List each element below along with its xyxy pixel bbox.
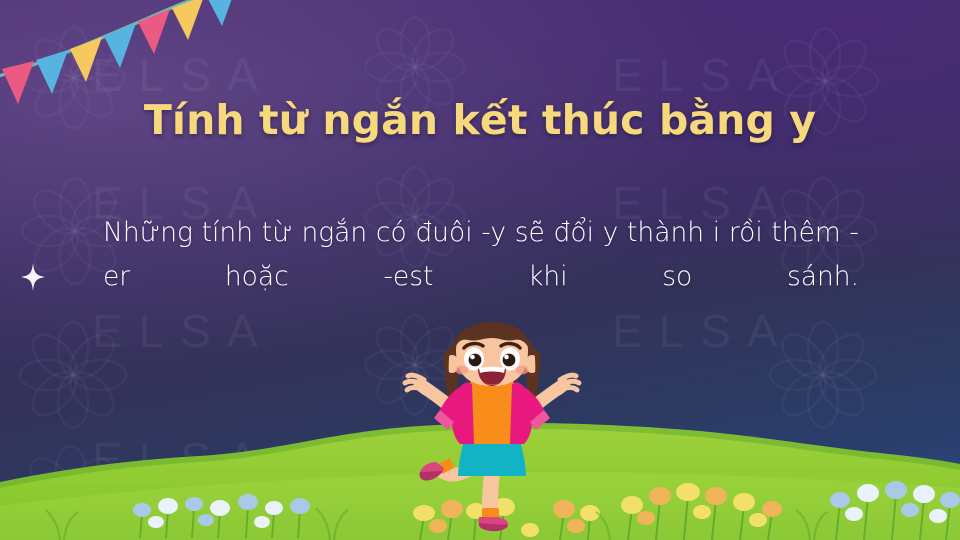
flag-yellow-2 xyxy=(70,37,102,82)
sparkle-star-icon xyxy=(20,262,46,292)
flag-pink-2 xyxy=(138,9,170,54)
page-title: Tính từ ngắn kết thúc bằng y xyxy=(0,96,960,144)
elsa-watermark: ELSA xyxy=(612,48,794,102)
flag-blue-2 xyxy=(104,23,136,68)
cartoon-girl-illustration xyxy=(402,322,582,540)
slide-canvas: ELSAELSAELSAELSAELSAELSAELSAELSA Tính từ… xyxy=(0,0,960,540)
flag-blue-1 xyxy=(36,50,68,94)
flag-blue-3 xyxy=(206,0,238,26)
